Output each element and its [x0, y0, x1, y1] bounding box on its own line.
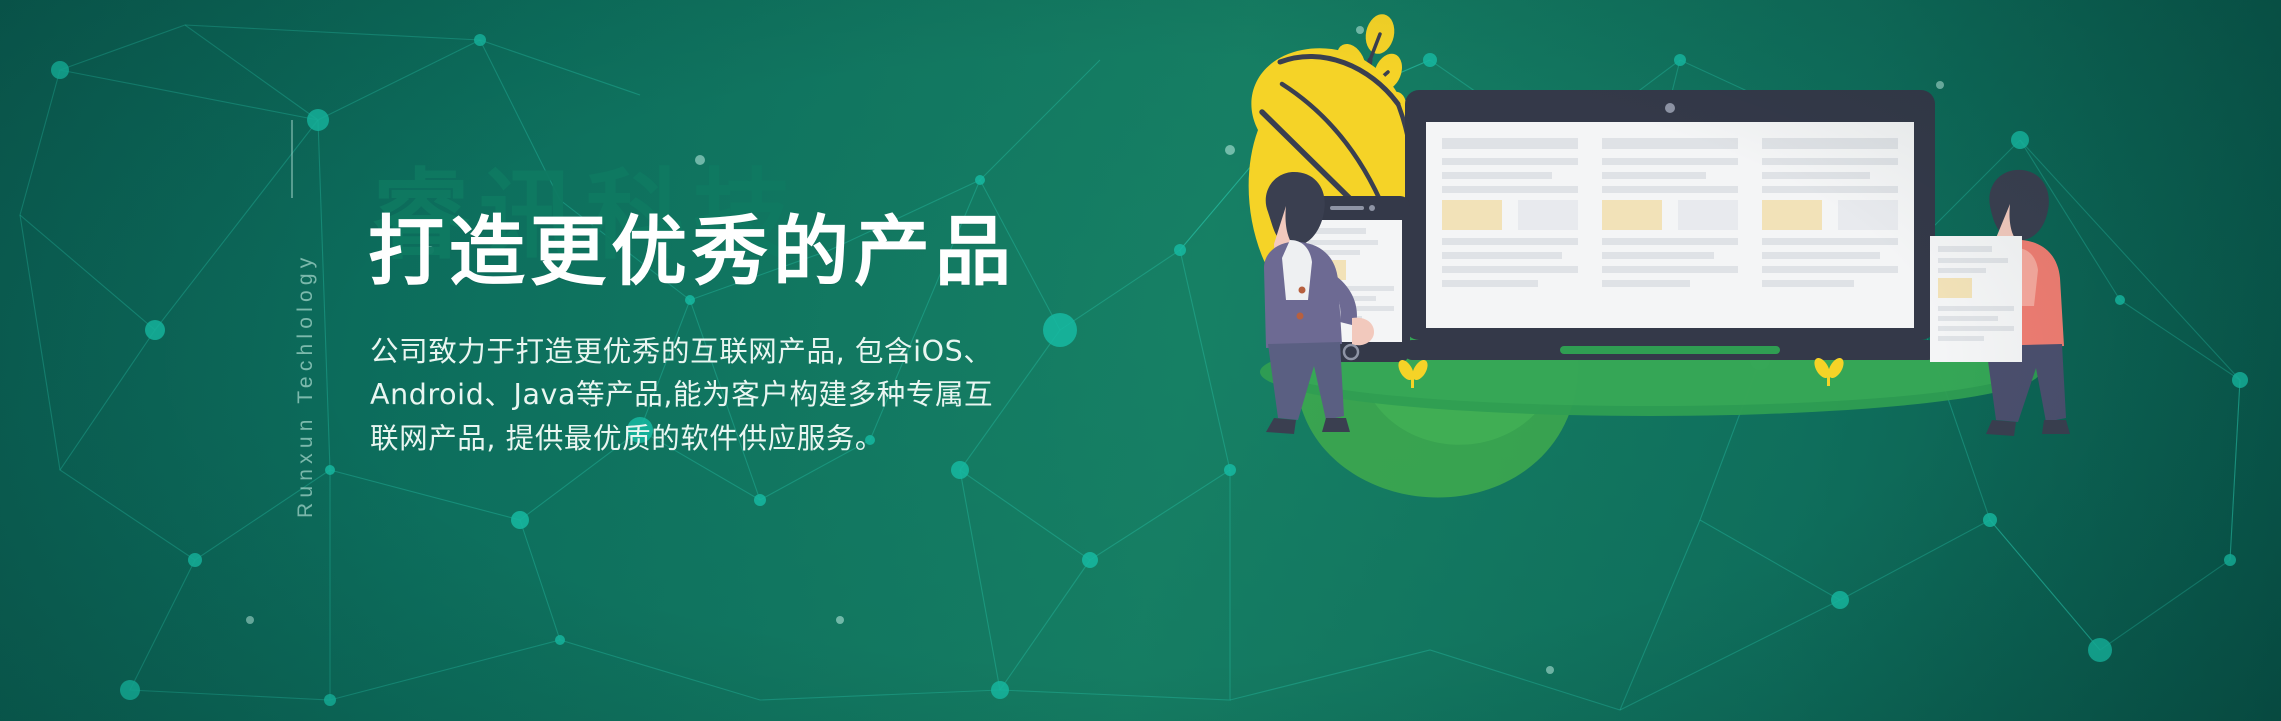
hero-banner: Runxun Techlology 睿讯科技 打造更优秀的产品 公司致力于打造更…: [0, 0, 2281, 721]
background-vignette: [0, 0, 2281, 721]
